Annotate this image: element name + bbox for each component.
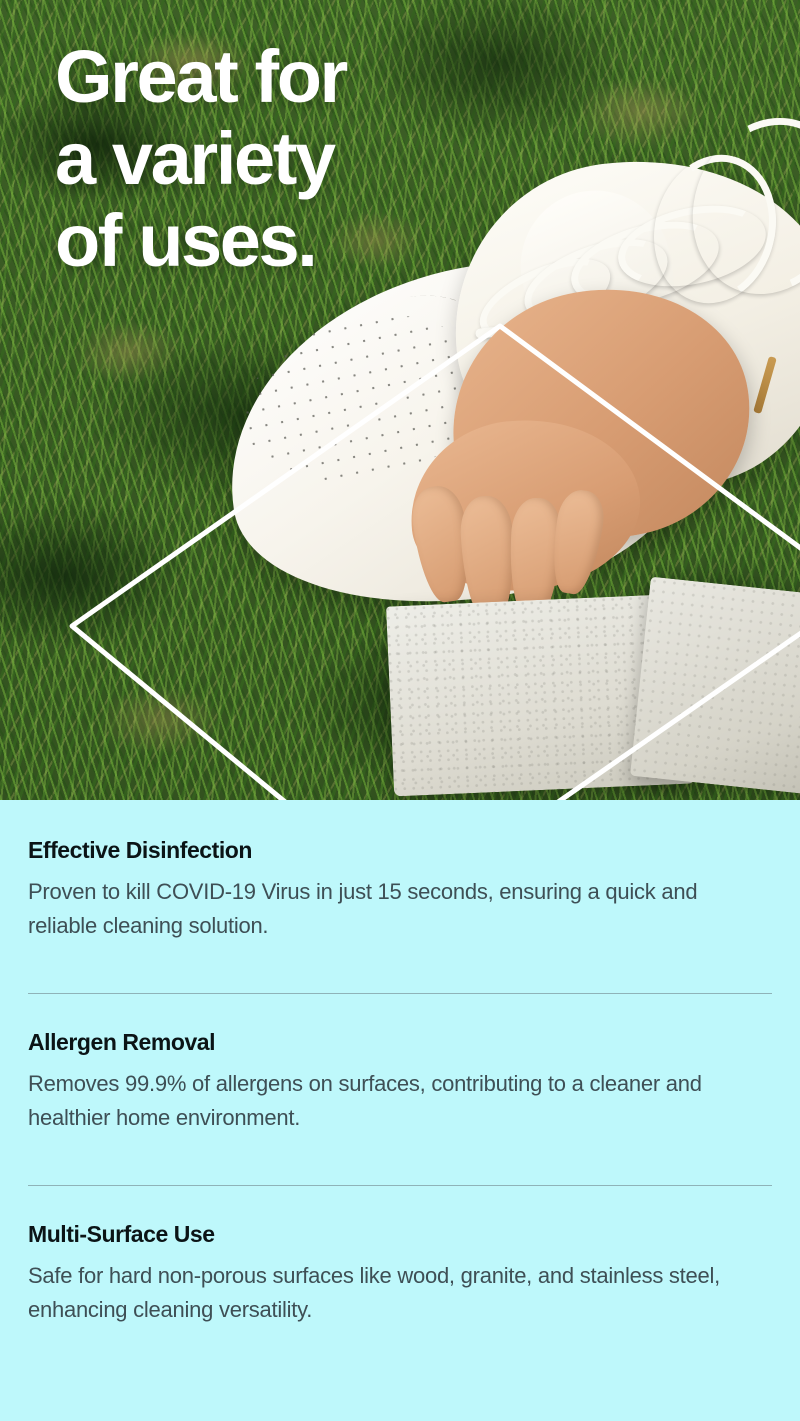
feature-item-allergen-removal: Allergen Removal Removes 99.9% of allerg…: [28, 994, 772, 1185]
feature-description: Proven to kill COVID-19 Virus in just 15…: [28, 875, 754, 943]
feature-item-multi-surface-use: Multi-Surface Use Safe for hard non-poro…: [28, 1186, 772, 1367]
hero-image: Great for a variety of uses.: [0, 0, 800, 800]
feature-title: Effective Disinfection: [28, 836, 772, 864]
feature-title: Multi-Surface Use: [28, 1220, 772, 1248]
cleaning-wipe-secondary: [630, 577, 800, 796]
feature-item-effective-disinfection: Effective Disinfection Proven to kill CO…: [28, 800, 772, 993]
feature-description: Safe for hard non-porous surfaces like w…: [28, 1259, 754, 1327]
feature-title: Allergen Removal: [28, 1028, 772, 1056]
hero-headline: Great for a variety of uses.: [55, 36, 475, 282]
feature-description: Removes 99.9% of allergens on surfaces, …: [28, 1067, 754, 1135]
hand-illustration: [330, 300, 660, 600]
feature-list: Effective Disinfection Proven to kill CO…: [0, 800, 800, 1367]
product-feature-page: Great for a variety of uses. Effective D…: [0, 0, 800, 1421]
